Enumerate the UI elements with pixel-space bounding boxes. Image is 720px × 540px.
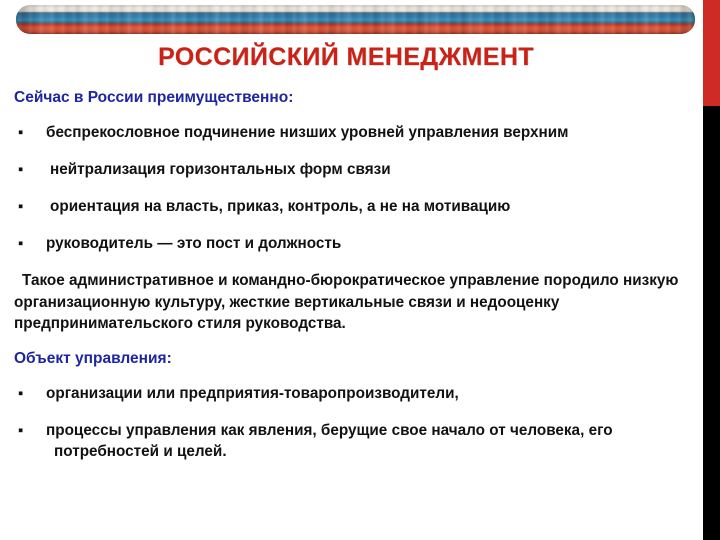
presentation-slide: РОССИЙСКИЙ МЕНЕДЖМЕНТ Сейчас в России пр…	[0, 0, 720, 540]
list-item: ▪ руководитель — это пост и должность	[14, 233, 692, 254]
list-item-label: ориентация на власть, приказ, контроль, …	[40, 196, 692, 217]
list-item-label: нейтрализация горизонтальных форм связи	[40, 159, 692, 180]
bullet-icon: ▪	[14, 420, 40, 441]
banner-cap-left	[16, 5, 30, 34]
list-item: ▪ организации или предприятия-товаропрои…	[14, 383, 692, 404]
section-heading: Объект управления:	[14, 349, 692, 369]
list-item-label: руководитель — это пост и должность	[40, 233, 692, 254]
bullet-icon: ▪	[14, 122, 40, 143]
list-item-label: процессы управления как явления, берущие…	[40, 420, 692, 462]
page-title: РОССИЙСКИЙ МЕНЕДЖМЕНТ	[0, 43, 692, 72]
list-item: ▪ нейтрализация горизонтальных форм связ…	[14, 159, 692, 180]
bullet-icon: ▪	[14, 233, 40, 254]
right-edge-red-bar	[703, 0, 720, 106]
lead-heading: Сейчас в России преимущественно:	[14, 88, 692, 108]
bullet-icon: ▪	[14, 196, 40, 217]
body-paragraph: Такое административное и командно-бюрокр…	[14, 270, 692, 335]
banner-cap-right	[681, 5, 695, 34]
list-item: ▪ процессы управления как явления, берущ…	[14, 420, 692, 462]
list-item-label: организации или предприятия-товаропроизв…	[40, 383, 692, 404]
bullet-icon: ▪	[14, 159, 40, 180]
list-item: ▪ беспрекословное подчинение низших уров…	[14, 122, 692, 143]
list-item: ▪ ориентация на власть, приказ, контроль…	[14, 196, 692, 217]
bullet-icon: ▪	[14, 383, 40, 404]
list-item-label: беспрекословное подчинение низших уровне…	[40, 122, 692, 143]
slide-body: Сейчас в России преимущественно: ▪ беспр…	[14, 88, 692, 478]
russian-flag-banner	[16, 5, 695, 34]
right-edge-black-bar	[703, 106, 720, 540]
